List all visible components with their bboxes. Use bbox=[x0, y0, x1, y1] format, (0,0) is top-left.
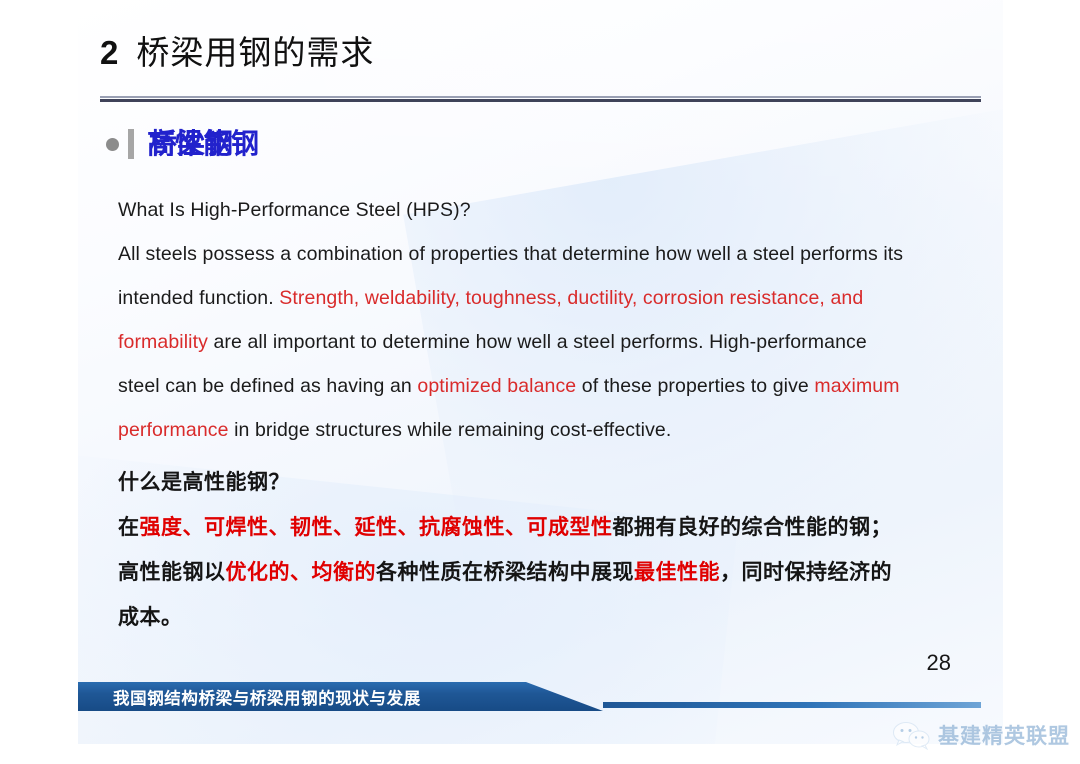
text-line: formability are all important to determi… bbox=[118, 320, 998, 364]
text-line: performance in bridge structures while r… bbox=[118, 408, 998, 452]
page-number: 28 bbox=[927, 650, 951, 676]
text-run: 各种性质在桥梁结构中展现 bbox=[376, 561, 634, 584]
text-run: of these properties to give bbox=[576, 375, 814, 397]
bullet-dot-icon bbox=[106, 138, 119, 151]
highlighted-run: optimized balance bbox=[417, 375, 576, 397]
bullet-bar-icon bbox=[128, 129, 134, 159]
text-line: steel can be defined as having an optimi… bbox=[118, 364, 998, 408]
text-run: 都拥有良好的综合性能的钢； bbox=[613, 516, 893, 539]
slide-title-text: 桥梁用钢的需求 bbox=[136, 36, 374, 69]
subheading-block: 高性能钢 桥梁钢 bbox=[106, 124, 317, 164]
subheading-text-stack: 高性能钢 桥梁钢 bbox=[147, 127, 317, 161]
title-divider bbox=[100, 96, 981, 102]
english-heading: What Is High-Performance Steel (HPS)? bbox=[118, 188, 998, 232]
text-line: 高性能钢以优化的、均衡的各种性质在桥梁结构中展现最佳性能，同时保持经济的 bbox=[118, 550, 998, 595]
english-paragraph: All steels possess a combination of prop… bbox=[118, 232, 998, 452]
text-run: intended function. bbox=[118, 287, 279, 309]
subheading-layer-b: 桥梁钢 bbox=[149, 127, 233, 161]
chinese-paragraph: 在强度、可焊性、韧性、延性、抗腐蚀性、可成型性都拥有良好的综合性能的钢；高性能钢… bbox=[118, 505, 998, 640]
text-run: All steels possess a combination of prop… bbox=[118, 243, 903, 265]
text-run: ，同时保持经济的 bbox=[720, 561, 892, 584]
text-run: are all important to determine how well … bbox=[208, 331, 867, 353]
highlighted-run: maximum bbox=[814, 375, 899, 397]
title-divider-thick-line bbox=[100, 99, 981, 103]
text-run: 高性能钢以 bbox=[118, 561, 226, 584]
footer-banner-tail bbox=[603, 702, 981, 708]
highlighted-run: performance bbox=[118, 419, 229, 441]
slide-body: What Is High-Performance Steel (HPS)? Al… bbox=[118, 188, 998, 640]
text-line: All steels possess a combination of prop… bbox=[118, 232, 998, 276]
slide-title: 2 桥梁用钢的需求 bbox=[100, 36, 374, 69]
text-run: 成本。 bbox=[118, 606, 183, 629]
text-run: in bridge structures while remaining cos… bbox=[229, 419, 672, 441]
slide-title-number: 2 bbox=[100, 36, 118, 69]
highlighted-run: formability bbox=[118, 331, 208, 353]
text-line: 在强度、可焊性、韧性、延性、抗腐蚀性、可成型性都拥有良好的综合性能的钢； bbox=[118, 505, 998, 550]
footer-banner-text: 我国钢结构桥梁与桥梁用钢的现状与发展 bbox=[113, 685, 421, 709]
slide-canvas: 2 桥梁用钢的需求 高性能钢 桥梁钢 What Is High-Performa… bbox=[78, 0, 1003, 744]
highlighted-run: 最佳性能 bbox=[634, 561, 720, 584]
text-line: intended function. Strength, weldability… bbox=[118, 276, 998, 320]
text-run: steel can be defined as having an bbox=[118, 375, 417, 397]
text-run: 在 bbox=[118, 516, 140, 539]
chinese-question: 什么是高性能钢？ bbox=[118, 460, 998, 505]
highlighted-run: 强度、可焊性、韧性、延性、抗腐蚀性、可成型性 bbox=[140, 516, 613, 539]
highlighted-run: Strength, weldability, toughness, ductil… bbox=[279, 287, 863, 309]
footer-banner: 我国钢结构桥梁与桥梁用钢的现状与发展 bbox=[78, 682, 603, 711]
text-line: 成本。 bbox=[118, 595, 998, 640]
highlighted-run: 优化的、均衡的 bbox=[226, 561, 377, 584]
